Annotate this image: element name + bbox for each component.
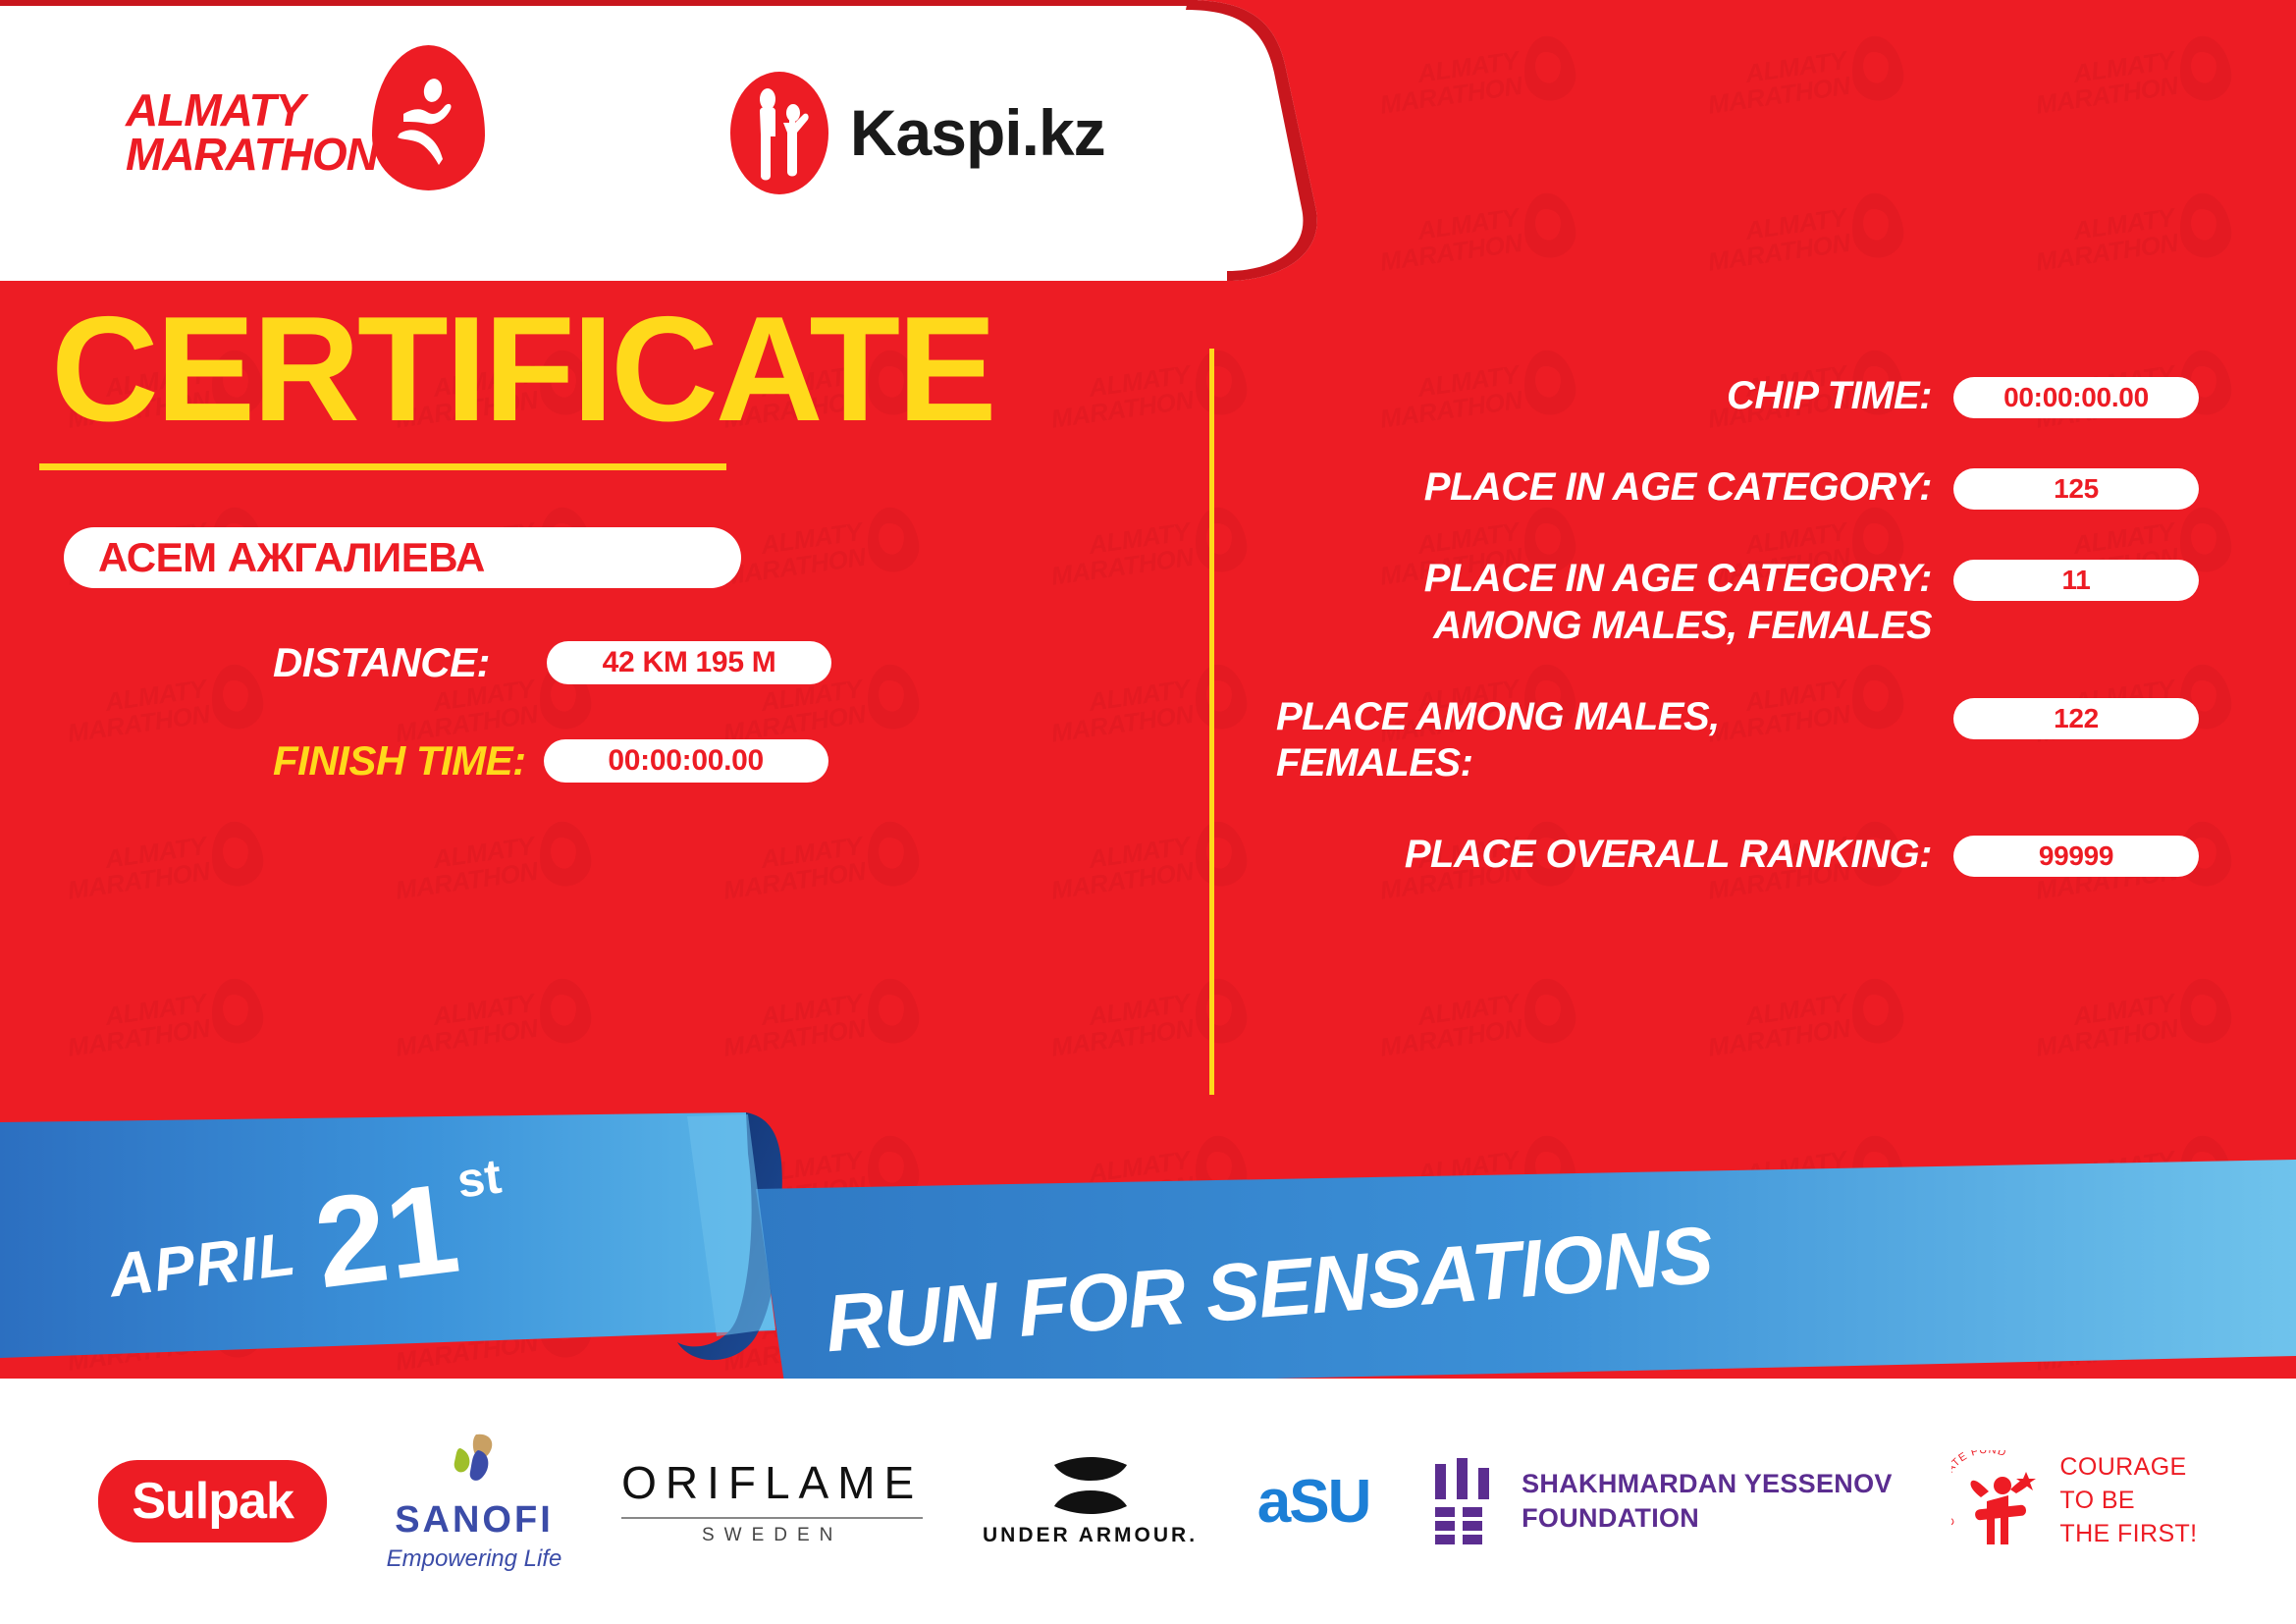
certificate-left-column: CERTIFICATE АСЕМ АЖГАЛИЕВА DISTANCE: 42 … [0, 295, 1158, 785]
finish-time-label: FINISH TIME: [273, 737, 526, 785]
stat-row-place-age-gender: PLACE IN AGE CATEGORY: AMONG MALES, FEMA… [1276, 556, 2199, 648]
under-armour-mark-icon [1033, 1455, 1148, 1516]
watermark-tile: ALMATYMARATHON [647, 764, 993, 965]
watermark-tile: ALMATYMARATHON [647, 921, 993, 1122]
overall-ranking-value: 99999 [1953, 836, 2199, 877]
place-gender-label: PLACE AMONG MALES, FEMALES: [1276, 694, 1953, 786]
finish-time-row: FINISH TIME: 00:00:00.00 [273, 737, 1158, 785]
sponsor-asu: aSU [1257, 1467, 1370, 1537]
marathon-droplet-icon [372, 45, 485, 190]
certificate-stats-column: CHIP TIME: 00:00:00.00 PLACE IN AGE CATE… [1276, 373, 2199, 923]
page-title: CERTIFICATE [51, 295, 1158, 444]
kaspi-logo: Kaspi.kz [730, 72, 1105, 194]
place-age-value: 125 [1953, 468, 2199, 510]
watermark-tile: ALMATYMARATHON [1958, 921, 2296, 1122]
sponsors-bar: Sulpak SANOFI Empowering Life ORIFLAME [0, 1379, 2296, 1624]
marathon-line: MARATHON [126, 133, 378, 177]
almaty-marathon-logo: ALMATY MARATHON [126, 75, 485, 190]
column-divider [1209, 349, 1214, 1095]
sponsor-sanofi: SANOFI Empowering Life [387, 1431, 562, 1573]
runner-icon [398, 79, 458, 169]
chip-time-value: 00:00:00.00 [1953, 377, 2199, 418]
place-age-gender-value: 11 [1953, 560, 2199, 601]
event-ribbon: APRIL 21 st RUN FOR SENSATIONS [0, 1095, 2296, 1419]
sulpak-logo: Sulpak [98, 1460, 327, 1543]
overall-ranking-label: PLACE OVERALL RANKING: [1276, 832, 1953, 878]
place-gender-label-line1: PLACE AMONG MALES, [1276, 694, 1932, 740]
participant-name-value: АСЕМ АЖГАЛИЕВА [98, 534, 485, 581]
almaty-marathon-wordmark: ALMATY MARATHON [126, 88, 378, 177]
watermark-tile: ALMATYMARATHON [0, 764, 338, 965]
stat-row-overall: PLACE OVERALL RANKING: 99999 [1276, 832, 2199, 878]
place-age-label: PLACE IN AGE CATEGORY: [1276, 464, 1953, 511]
sponsor-yessenov-foundation: SHAKHMARDAN YESSENOV FOUNDATION [1429, 1458, 1893, 1544]
sponsor-under-armour: UNDER ARMOUR. [983, 1455, 1198, 1547]
ribbon-day-suffix: st [454, 1148, 504, 1210]
stat-row-chip-time: CHIP TIME: 00:00:00.00 [1276, 373, 2199, 419]
under-armour-wordmark: UNDER ARMOUR. [983, 1524, 1198, 1547]
sponsor-courage-fund: CORPORATE FUND COURAGE TO BE THE FIRST! [1951, 1450, 2197, 1552]
courage-line3: THE FIRST! [2059, 1518, 2197, 1551]
watermark-tile: ALMATYMARATHON [975, 764, 1321, 965]
watermark-tile: ALMATYMARATHON [319, 764, 666, 965]
yessenov-wordmark: SHAKHMARDAN YESSENOV FOUNDATION [1522, 1467, 1893, 1536]
kaspi-mark-icon [730, 72, 828, 194]
place-age-gender-label-line1: PLACE IN AGE CATEGORY: [1276, 556, 1932, 602]
kaspi-figures-icon [730, 72, 828, 194]
distance-value: 42 KM 195 M [547, 641, 831, 684]
chip-time-label: CHIP TIME: [1276, 373, 1953, 419]
asu-wordmark: aSU [1257, 1467, 1370, 1537]
stat-row-place-age: PLACE IN AGE CATEGORY: 125 [1276, 464, 2199, 511]
place-gender-value: 122 [1953, 698, 2199, 739]
certificate-card: ALMATYMARATHONALMATYMARATHONALMATYMARATH… [0, 0, 2296, 1624]
oriflame-sub: SWEDEN [621, 1525, 923, 1546]
watermark-tile: ALMATYMARATHON [975, 921, 1321, 1122]
title-underline [39, 463, 726, 470]
ribbon-month: APRIL [105, 1219, 299, 1312]
oriflame-rule [621, 1517, 923, 1519]
place-age-gender-label: PLACE IN AGE CATEGORY: AMONG MALES, FEMA… [1276, 556, 1953, 648]
ribbon-day: 21 [309, 1172, 463, 1297]
watermark-tile: ALMATYMARATHON [1958, 135, 2296, 337]
watermark-tile: ALMATYMARATHON [1630, 921, 1977, 1122]
oriflame-wordmark: ORIFLAME [621, 1456, 923, 1509]
distance-row: DISTANCE: 42 KM 195 M [273, 639, 1158, 686]
watermark-tile: ALMATYMARATHON [319, 921, 666, 1122]
yessenov-mark-icon [1429, 1458, 1498, 1544]
kaspi-wordmark: Kaspi.kz [850, 95, 1105, 170]
sanofi-mark-icon [443, 1431, 506, 1493]
watermark-tile: ALMATYMARATHON [1303, 921, 1649, 1122]
participant-name-field: АСЕМ АЖГАЛИЕВА [64, 527, 741, 588]
watermark-tile: ALMATYMARATHON [1630, 0, 1977, 179]
courage-line2: TO BE [2059, 1485, 2197, 1518]
courage-line1: COURAGE [2059, 1451, 2197, 1485]
yessenov-line1: SHAKHMARDAN YESSENOV [1522, 1467, 1893, 1501]
header-logos: ALMATY MARATHON Kaspi.kz [0, 0, 1178, 265]
stat-row-place-gender: PLACE AMONG MALES, FEMALES: 122 [1276, 694, 2199, 786]
watermark-tile: ALMATYMARATHON [0, 921, 338, 1122]
watermark-tile: ALMATYMARATHON [1958, 0, 2296, 179]
place-age-gender-label-line2: AMONG MALES, FEMALES [1276, 603, 1932, 649]
distance-label: DISTANCE: [273, 639, 490, 686]
finish-time-value: 00:00:00.00 [544, 739, 828, 783]
courage-wordmark: COURAGE TO BE THE FIRST! [2059, 1451, 2197, 1550]
sponsor-oriflame: ORIFLAME SWEDEN [621, 1456, 923, 1546]
sanofi-tagline: Empowering Life [387, 1545, 562, 1573]
place-gender-label-line2: FEMALES: [1276, 740, 1932, 786]
yessenov-line2: FOUNDATION [1522, 1501, 1893, 1536]
sponsor-sulpak: Sulpak [98, 1460, 327, 1543]
courage-mark-icon: CORPORATE FUND [1951, 1450, 2046, 1552]
watermark-tile: ALMATYMARATHON [1630, 135, 1977, 337]
almaty-line: ALMATY [126, 88, 378, 133]
sanofi-wordmark: SANOFI [387, 1499, 562, 1542]
